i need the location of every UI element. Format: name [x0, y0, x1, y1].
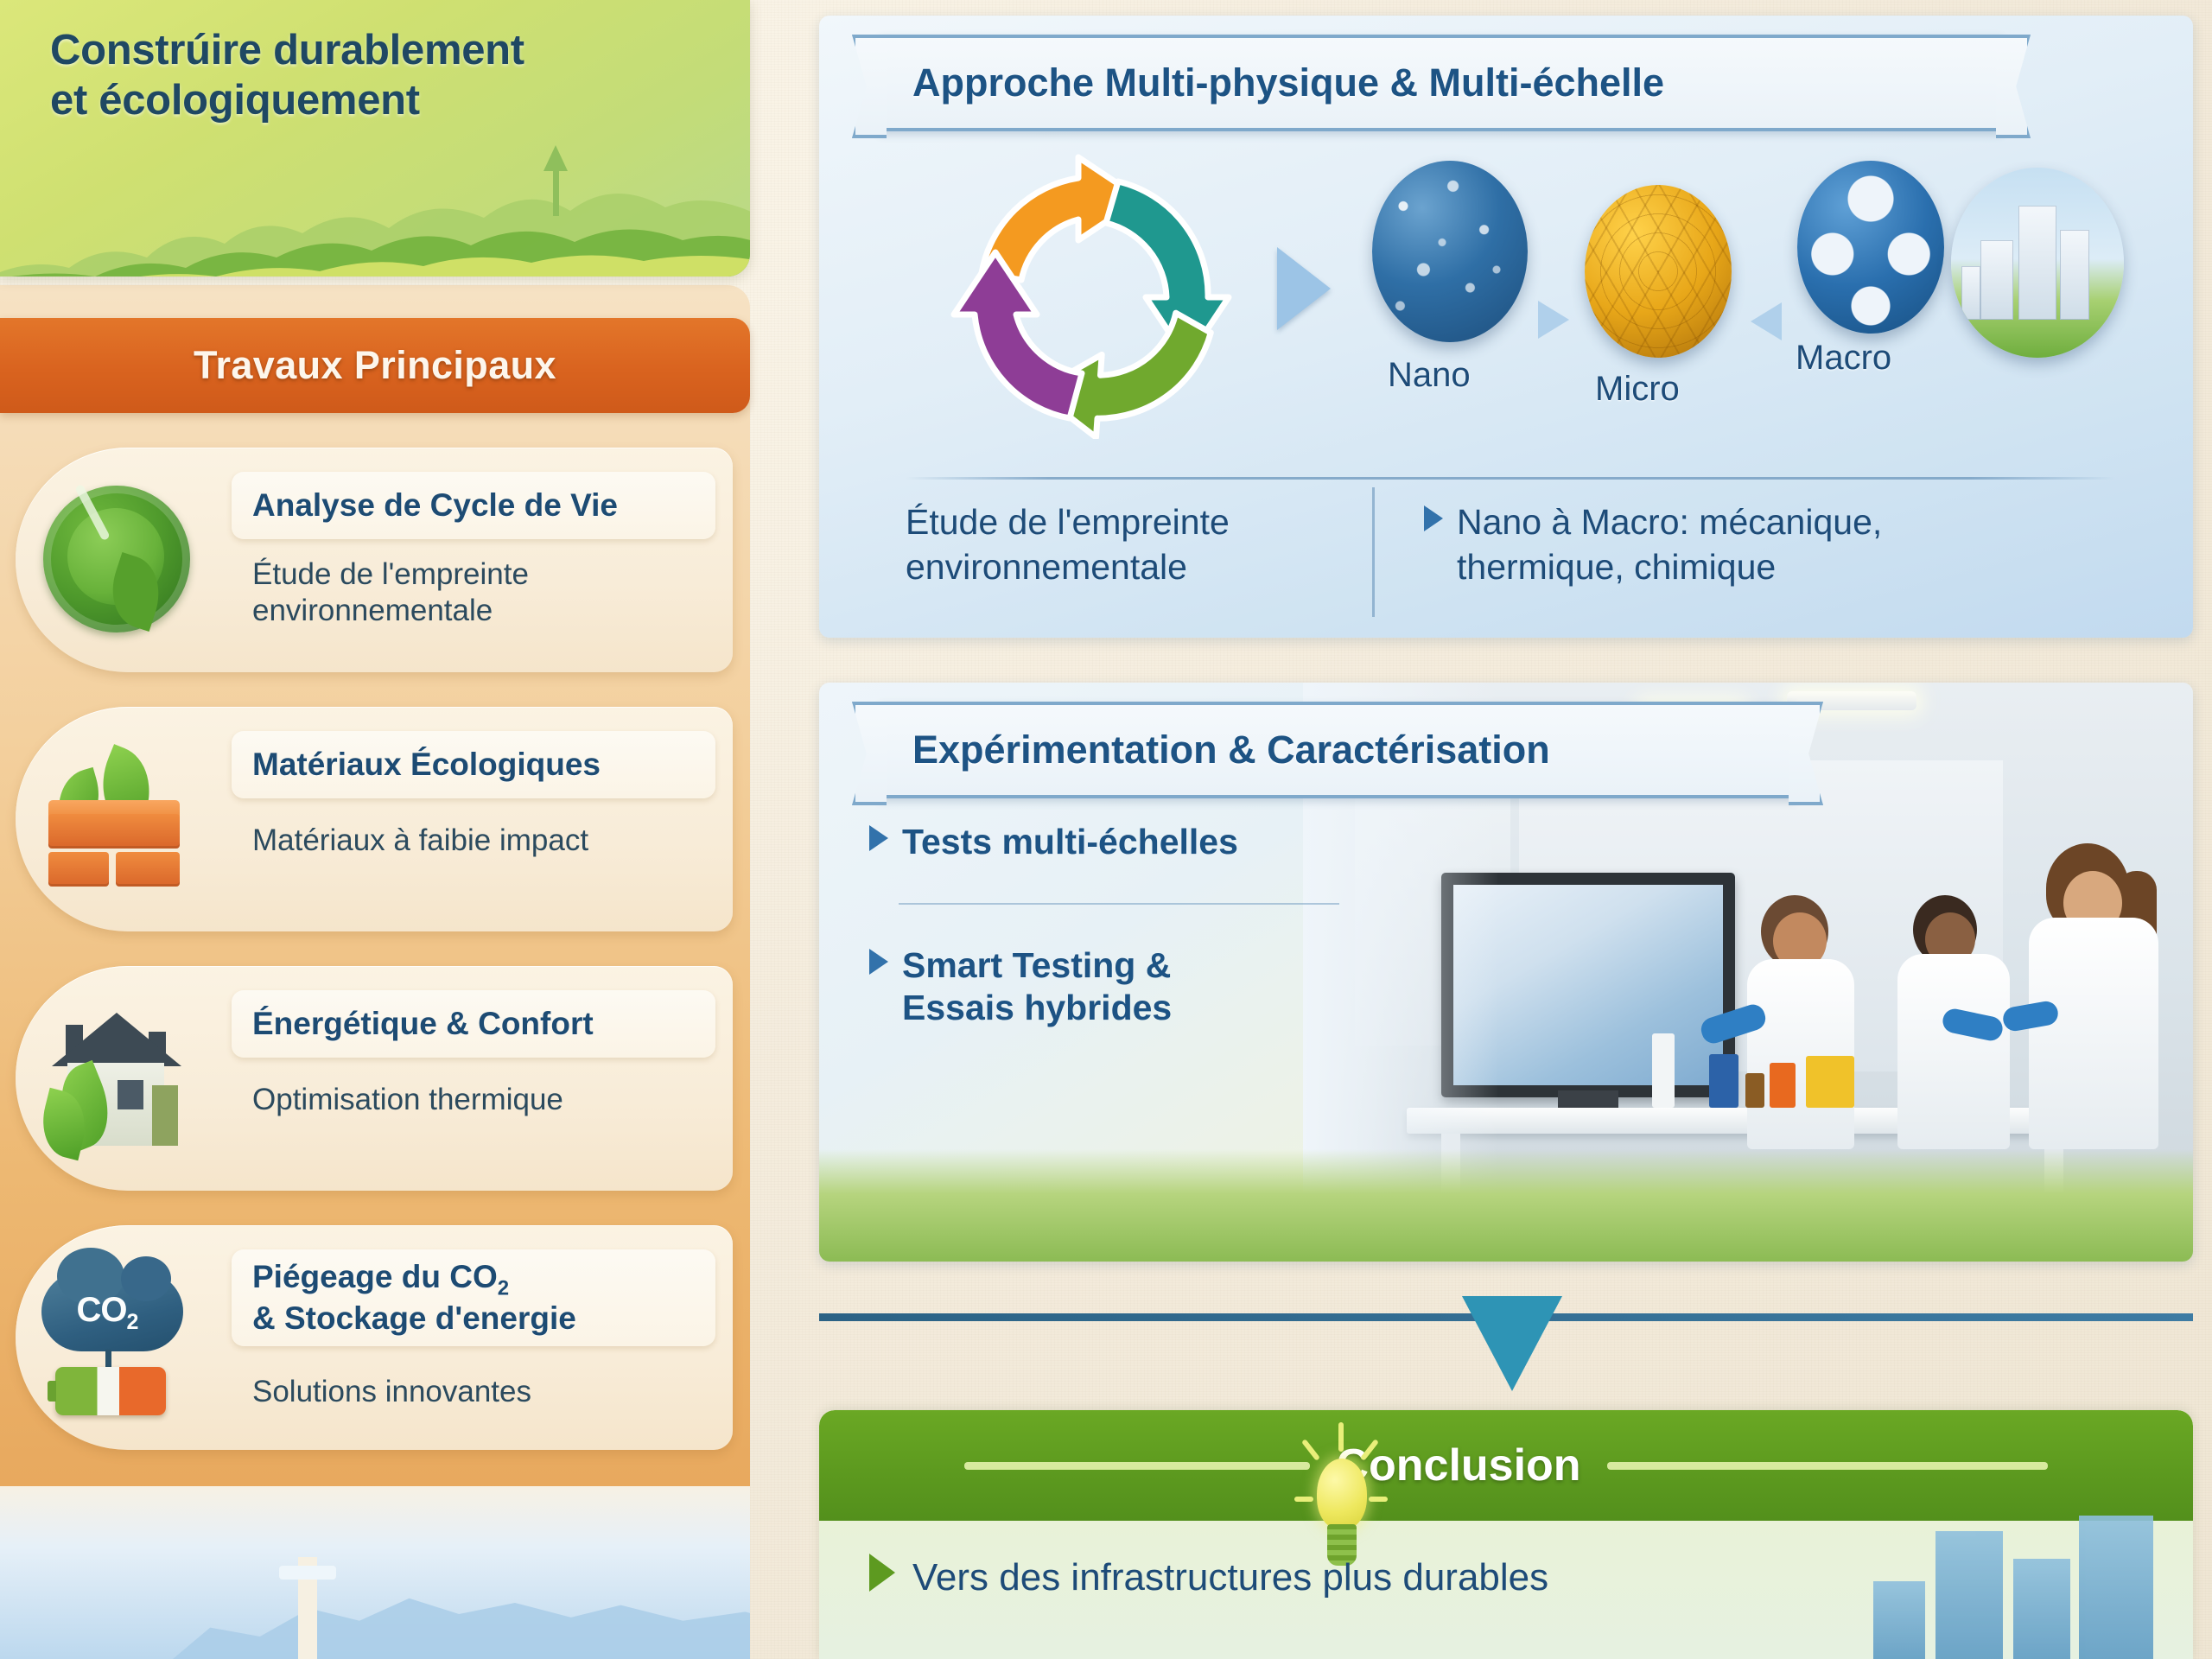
card-title-line1: Piégeage du CO — [252, 1259, 498, 1294]
experimentation-bullet-2-line2: Essais hybrides — [902, 987, 1353, 1029]
card-subtitle-line1: Étude de l'empreinte — [252, 556, 728, 593]
sidebar-sky-footer — [0, 1486, 750, 1659]
arrow-macro-to-micro — [1751, 302, 1782, 340]
experimentation-bullet-1-line1: Tests multi-échelles — [902, 822, 1238, 861]
experimentation-bullet-2: Smart Testing & Essais hybrides — [869, 944, 1353, 1029]
travaux-principaux-label: Travaux Principaux — [194, 343, 556, 388]
conclusion-bullets: Vers des infrastructures plus durables — [869, 1554, 1820, 1601]
triangle-bullet-icon — [869, 949, 888, 975]
card-title: Matériaux Écologiques — [252, 747, 601, 782]
approche-text-left: Étude de l'empreinte environnementale — [906, 499, 1355, 590]
grass-strip — [819, 1149, 2193, 1262]
card-title-line2: & Stockage d'energie — [252, 1300, 576, 1336]
experimentation-bullets: Tests multi-échelles Smart Testing & Ess… — [869, 821, 1353, 1030]
city-silhouette — [1856, 1488, 2167, 1659]
work-card-analyse-cycle-de-vie[interactable]: Analyse de Cycle de Vie Étude de l'empre… — [16, 448, 733, 672]
co2-label: CO2 — [36, 1291, 178, 1335]
card-subtitle: Optimisation thermique — [252, 1082, 728, 1118]
section-connector-arrow — [1462, 1296, 1562, 1391]
conclusion-bullet-1-text: Vers des infrastructures plus durables — [912, 1556, 1548, 1599]
triangle-bullet-icon — [1424, 505, 1443, 531]
right-content-column: Approche Multi-physique & Multi-échelle … — [795, 0, 2212, 1659]
circular-arrows-icon — [949, 154, 1251, 439]
card-subtitle-line1: Matériaux à faibie impact — [252, 823, 728, 859]
hero-title-line2: et écologiquement — [50, 76, 707, 126]
scale-item-city — [1951, 168, 2124, 358]
card-title: Piégeage du CO2 & Stockage d'energie — [252, 1259, 576, 1337]
approche-ribbon-title: Approche Multi-physique & Multi-échelle — [883, 60, 1694, 105]
card-subtitle-line1: Solutions innovantes — [252, 1374, 728, 1410]
panel1-divider — [906, 477, 2115, 480]
co2-cloud-battery-icon: CO2 — [28, 1249, 204, 1426]
chevron-right-icon — [1277, 247, 1331, 330]
card-subtitle: Solutions innovantes — [252, 1374, 728, 1410]
scale-item-nano: Nano — [1372, 161, 1528, 342]
card-subtitle-line1: Optimisation thermique — [252, 1082, 728, 1118]
card-title: Énergétique & Confort — [252, 1006, 594, 1041]
nano-sphere-icon — [1372, 161, 1528, 342]
experimentation-bullet-2-line1: Smart Testing & — [902, 945, 1171, 985]
globe-recycle-icon — [28, 472, 204, 648]
house-leaf-icon — [28, 990, 204, 1166]
card-title-plate: Énergétique & Confort — [232, 990, 715, 1058]
approche-text-left-line1: Étude de l'empreinte — [906, 499, 1355, 544]
card-title-plate: Matériaux Écologiques — [232, 731, 715, 798]
approche-bullet-row: Nano à Macro: mécanique, — [1424, 499, 2046, 544]
approche-text-right-line2: thermique, chimique — [1457, 544, 2046, 589]
card-title-subscript: 2 — [498, 1277, 509, 1300]
hero-card: Constrúire durablement et écologiquement — [0, 0, 750, 276]
triangle-bullet-icon — [869, 825, 888, 851]
panel1-vertical-separator — [1372, 487, 1375, 617]
arrow-nano-to-micro — [1538, 301, 1569, 339]
experimentation-ribbon-header: Expérimentation & Caractérisation — [880, 702, 1796, 798]
work-card-energetique-confort[interactable]: Énergétique & Confort Optimisation therm… — [16, 966, 733, 1191]
travaux-principaux-banner: Travaux Principaux — [0, 318, 750, 413]
brick-leaf-icon — [28, 731, 204, 907]
card-subtitle: Matériaux à faibie impact — [252, 823, 728, 859]
micro-sphere-icon — [1585, 185, 1732, 358]
tree-skyline-illustration — [0, 121, 750, 276]
scale-item-macro: Macro — [1797, 161, 1944, 334]
macro-sphere-icon — [1797, 161, 1944, 334]
skyline-hill — [173, 1547, 750, 1659]
scale-item-micro: Micro — [1585, 185, 1732, 358]
approche-text-right: Nano à Macro: mécanique, thermique, chim… — [1424, 499, 2046, 590]
conclusion-bullet-1: Vers des infrastructures plus durables — [869, 1554, 1820, 1601]
approche-text-left-line2: environnementale — [906, 544, 1355, 589]
approche-text-right-line1: Nano à Macro: mécanique, — [1457, 502, 1882, 542]
card-title-plate: Piégeage du CO2 & Stockage d'energie — [232, 1249, 715, 1346]
card-subtitle: Étude de l'empreinte environnementale — [252, 556, 728, 629]
approche-ribbon-header: Approche Multi-physique & Multi-échelle — [880, 35, 2003, 131]
skyline-tower — [298, 1557, 317, 1659]
scale-label-nano: Nano — [1388, 356, 1471, 395]
left-sidebar: Constrúire durablement et écologiquement… — [0, 0, 760, 1659]
chevron-right-green-icon — [869, 1554, 895, 1592]
work-card-materiaux-ecologiques[interactable]: Matériaux Écologiques Matériaux à faibie… — [16, 707, 733, 931]
city-sphere-icon — [1951, 168, 2124, 358]
header-dash-right — [1607, 1462, 2048, 1470]
scale-label-micro: Micro — [1595, 370, 1680, 409]
hero-title: Constrúire durablement et écologiquement — [50, 26, 707, 126]
card-subtitle-line2: environnementale — [252, 593, 728, 629]
work-card-piegeage-co2[interactable]: CO2 Piégeage du CO2 & Stockage d'energie… — [16, 1225, 733, 1450]
bullet-separator — [899, 903, 1339, 905]
experimentation-bullet-1: Tests multi-échelles — [869, 821, 1353, 863]
card-title-plate: Analyse de Cycle de Vie — [232, 472, 715, 539]
panel-experimentation-caracterisation: Expérimentation & Caractérisation Tests … — [819, 683, 2193, 1262]
card-title: Analyse de Cycle de Vie — [252, 487, 618, 523]
experimentation-ribbon-title: Expérimentation & Caractérisation — [883, 728, 1580, 772]
hero-title-line1: Constrúire durablement — [50, 26, 707, 76]
scale-label-macro: Macro — [1796, 339, 1891, 378]
header-dash-left — [964, 1462, 1310, 1470]
panel-approche-multiphysique: Approche Multi-physique & Multi-échelle … — [819, 16, 2193, 638]
panel-conclusion: Conclusion Vers des infrastructures plus… — [819, 1410, 2193, 1659]
